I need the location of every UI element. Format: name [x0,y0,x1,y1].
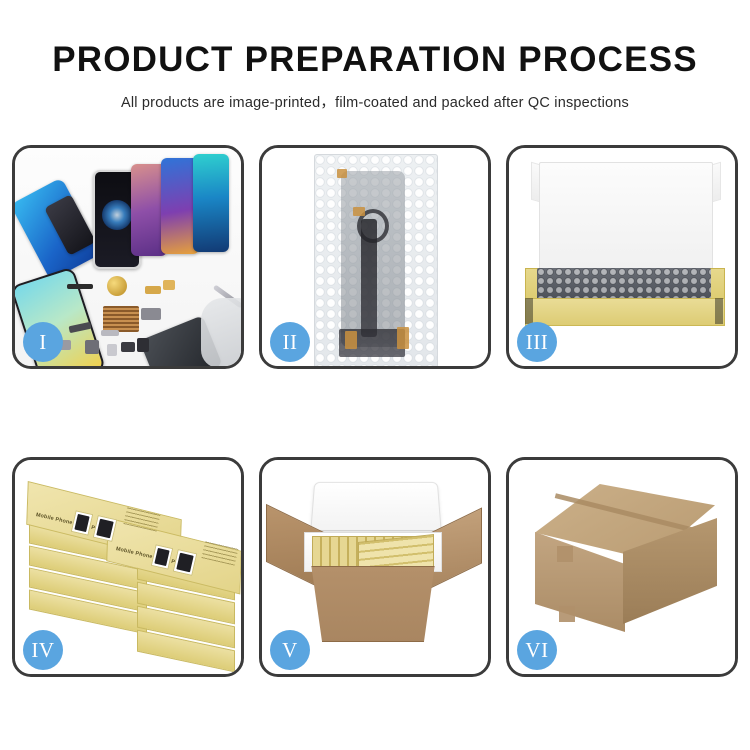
tape-mark-top [337,169,347,178]
step-panel-3[interactable]: III [506,145,738,369]
vibration-motor-part [107,276,127,296]
bubble-wrap-bag [314,154,438,366]
header: PRODUCT PREPARATION PROCESS All products… [0,0,750,112]
carton-front-panel [306,566,440,642]
step-badge-3: III [517,322,557,362]
tape-mark-middle [353,207,365,216]
carton-tape-patch-lower [559,606,575,622]
step-panel-2[interactable]: II [259,145,491,369]
page-subtitle: All products are image-printed，film-coat… [0,91,750,112]
step-badge-6: VI [517,630,557,670]
metal-shield-part [101,330,119,336]
white-box-lid [539,162,713,276]
phone-screen-teal [193,154,229,252]
connector-part [121,342,135,352]
tape-mark-bottom-right [397,327,409,349]
kraft-box-front-panel [525,298,725,326]
steps-grid: I II [12,145,738,677]
step-panel-6[interactable]: VI [506,457,738,677]
earpiece-speaker-part [67,284,93,289]
grey-foam-wrapped-parts [537,268,711,300]
product-preparation-infographic: PRODUCT PREPARATION PROCESS All products… [0,0,750,750]
step-panel-1[interactable]: I [12,145,244,369]
technician-hand [201,298,241,366]
sim-tray-part [107,344,117,356]
camera-module-part [85,340,99,354]
step-badge-1: I [23,322,63,362]
step-panel-5[interactable]: V [259,457,491,677]
page-title: PRODUCT PREPARATION PROCESS [0,42,750,79]
carton-tape-patch-upper [557,546,573,562]
step-badge-2: II [270,322,310,362]
step-panel-4[interactable]: Mobile Phone Spare Parts Mobile Phone Sp… [12,457,244,677]
screw-grid-tray [103,306,139,332]
step-badge-4: IV [23,630,63,670]
gold-contact-part [145,286,161,294]
box-corner-right [715,298,723,324]
bracket-part [137,338,149,352]
step-badge-5: V [270,630,310,670]
tape-mark-bottom-left [345,331,357,349]
antenna-part [141,308,161,320]
box-corner-left [525,298,533,324]
gold-flex-part [163,280,175,290]
